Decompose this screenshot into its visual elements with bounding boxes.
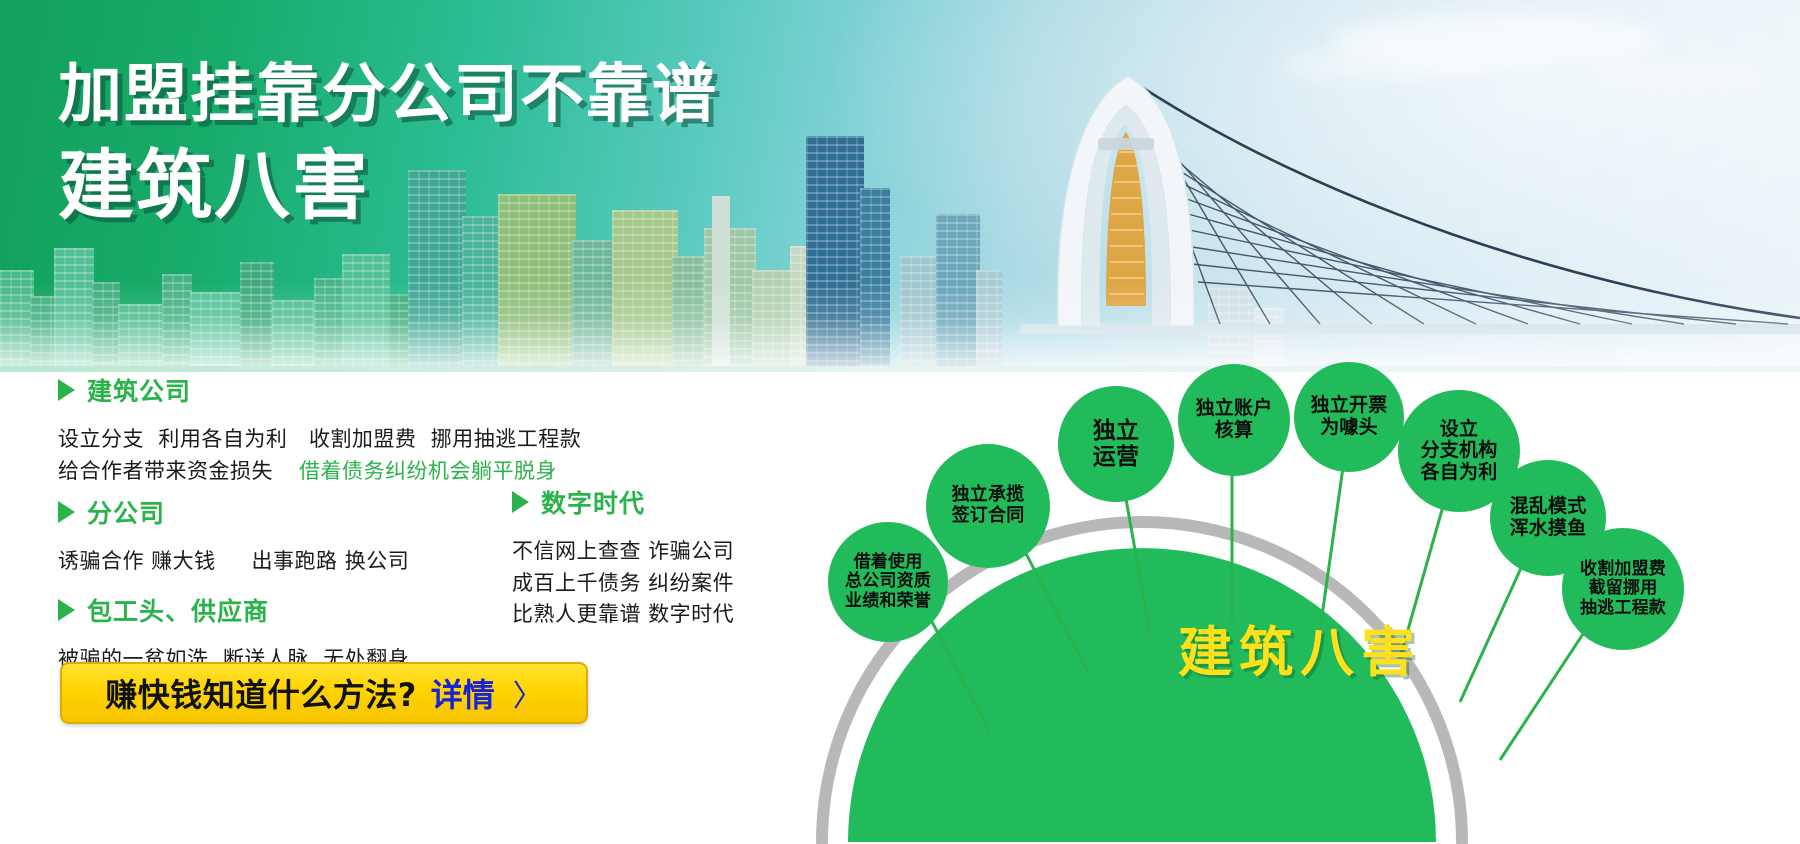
section-title: 数字时代 (541, 484, 645, 520)
section-body: 诱骗合作 赚大钱 出事跑路 换公司 (58, 546, 538, 578)
bubble-label: 设立 分支机构 各自为利 (1421, 419, 1498, 484)
poster-root: 加盟挂靠分公司不靠谱 建筑八害 建筑公司 设立分支 利用各自为利 收割加盟费 挪… (0, 0, 1800, 844)
section-title: 建筑公司 (87, 372, 191, 408)
hero-title-line1: 加盟挂靠分公司不靠谱 (58, 58, 718, 134)
section-construction-company: 建筑公司 设立分支 利用各自为利 收割加盟费 挪用抽逃工程款 给合作者带来资金损… (58, 372, 658, 487)
page-title: 加盟挂靠分公司不靠谱 建筑八害 (58, 58, 718, 231)
bubble-label: 独立开票 为噱头 (1311, 395, 1388, 438)
bubble-independent-operation[interactable]: 独立 运营 (1058, 386, 1174, 502)
section-header: 包工头、供应商 (58, 592, 578, 628)
section-title: 分公司 (87, 494, 165, 530)
section-header: 数字时代 (512, 484, 792, 520)
bubble-diagram: 建筑八害 借着使用 总公司资质 业绩和荣誉 独立承揽 签订合同 独立 运营 独立… (800, 372, 1800, 844)
section-body: 不信网上查查 诈骗公司 成百上千债务 纠纷案件 比熟人更靠谱 数字时代 (512, 536, 792, 631)
bubble-label: 借着使用 总公司资质 业绩和荣誉 (845, 553, 931, 611)
section-header: 建筑公司 (58, 372, 658, 408)
hero-banner: 加盟挂靠分公司不靠谱 建筑八害 (0, 0, 1800, 372)
hero-title-line2: 建筑八害 (58, 140, 718, 231)
bubble-label: 独立承揽 签订合同 (952, 485, 1025, 526)
section-line-green: 借着债务纠纷机会躺平脱身 (299, 456, 557, 488)
cta-main-label: 赚快钱知道什么方法? (105, 670, 417, 716)
triangle-bullet-icon (512, 491, 529, 513)
section-body: 设立分支 利用各自为利 收割加盟费 挪用抽逃工程款 给合作者带来资金损失 借着债… (58, 424, 658, 487)
hero-ground-fade (0, 282, 1800, 372)
triangle-bullet-icon (58, 501, 75, 523)
bubble-label: 独立账户 核算 (1196, 398, 1273, 441)
cta-button[interactable]: 赚快钱知道什么方法? 详情 〉 (60, 662, 588, 724)
section-title: 包工头、供应商 (87, 592, 269, 628)
section-line: 诱骗合作 赚大钱 出事跑路 换公司 (58, 546, 538, 578)
bubble-independent-invoice[interactable]: 独立开票 为噱头 (1294, 362, 1404, 472)
section-header: 分公司 (58, 494, 538, 530)
bubble-use-hq-qualification[interactable]: 借着使用 总公司资质 业绩和荣誉 (828, 522, 948, 642)
section-line-black: 给合作者带来资金损失 (58, 456, 273, 488)
bubble-independent-account[interactable]: 独立账户 核算 (1178, 364, 1290, 476)
left-content: 建筑公司 设立分支 利用各自为利 收割加盟费 挪用抽逃工程款 给合作者带来资金损… (0, 372, 800, 844)
triangle-bullet-icon (58, 599, 75, 621)
section-branch-company: 分公司 诱骗合作 赚大钱 出事跑路 换公司 (58, 494, 538, 578)
chevron-right-icon: 〉 (513, 671, 543, 715)
section-line: 比熟人更靠谱 数字时代 (512, 599, 792, 631)
bubble-harvest-fees[interactable]: 收割加盟费 截留挪用 抽逃工程款 (1562, 528, 1684, 650)
section-line: 设立分支 利用各自为利 收割加盟费 挪用抽逃工程款 (58, 424, 658, 456)
triangle-bullet-icon (58, 379, 75, 401)
section-line: 不信网上查查 诈骗公司 (512, 536, 792, 568)
section-digital-era: 数字时代 不信网上查查 诈骗公司 成百上千债务 纠纷案件 比熟人更靠谱 数字时代 (512, 484, 792, 631)
section-line-mixed: 给合作者带来资金损失 借着债务纠纷机会躺平脱身 (58, 456, 658, 488)
bubble-label: 收割加盟费 截留挪用 抽逃工程款 (1580, 560, 1666, 618)
bubble-label: 混乱模式 浑水摸鱼 (1510, 496, 1587, 539)
cta-detail-link[interactable]: 详情 (431, 670, 495, 716)
bubble-independent-contract[interactable]: 独立承揽 签订合同 (926, 444, 1050, 568)
bubble-label: 独立 运营 (1093, 418, 1139, 470)
section-line: 成百上千债务 纠纷案件 (512, 568, 792, 600)
